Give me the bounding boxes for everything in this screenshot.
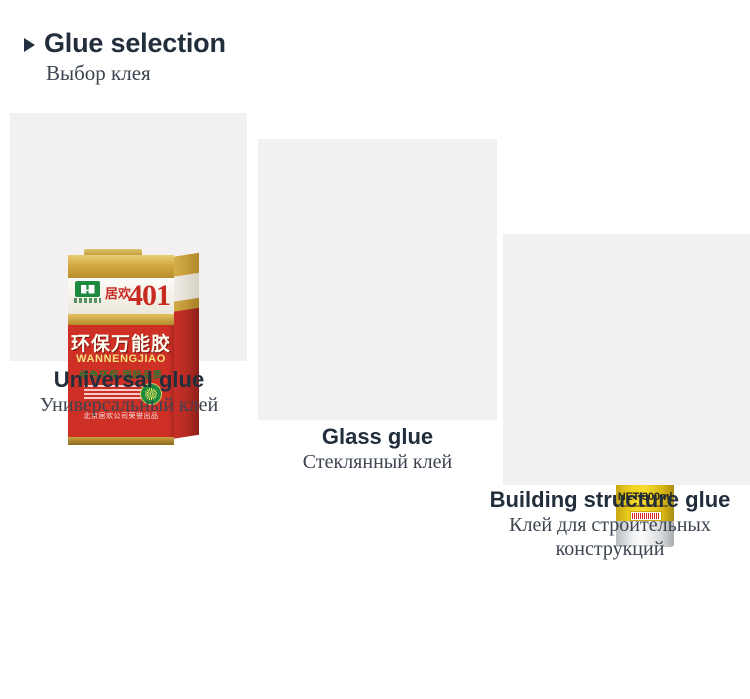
can-product-name-cn: 环保万能胶 xyxy=(68,329,174,356)
caption-en: Glass glue xyxy=(256,424,499,449)
product-image-panel-glass-glue: alloper ® 欢乐邦 HIGH SILICONE SEALANT ADHE… xyxy=(258,139,497,420)
caption-ru: Клей для строительных конструкций xyxy=(470,513,750,561)
page-subtitle: Выбор клея xyxy=(46,62,424,85)
can-bottom-rim xyxy=(68,437,174,445)
can-product-pinyin: WANNENGJIAO xyxy=(68,353,174,365)
can-mid-gold-band xyxy=(68,314,174,325)
page-header: Glue selection Выбор клея xyxy=(24,30,424,85)
can-white-band: 居欢 401 xyxy=(68,278,174,314)
caption-building-glue: Building structure glue Клей для строите… xyxy=(470,487,750,561)
green-brand-logo-icon xyxy=(75,281,100,297)
caption-en: Universal glue xyxy=(6,367,252,392)
logo-underline-text xyxy=(74,298,101,303)
triangle-right-icon xyxy=(24,38,35,52)
caption-universal-glue: Universal glue Универсальный клей xyxy=(6,367,252,417)
can-product-code: 401 xyxy=(128,279,170,312)
caption-glass-glue: Glass glue Стеклянный клей xyxy=(256,424,499,474)
product-image-panel-universal-glue: 居欢 401 环保万能胶 WANNENGJIAO 绿色环保 国际品质 北京居欢公… xyxy=(10,113,247,361)
caption-ru: Универсальный клей xyxy=(6,393,252,417)
caption-en: Building structure glue xyxy=(470,487,750,512)
product-image-panel-building-glue: 建筑结构胶 该标种生产工艺处于国内领先水平 JKJ−4 (混凝土界面型) xyxy=(503,234,750,485)
header-title-row: Glue selection xyxy=(24,30,424,57)
can-top-gold-band xyxy=(68,255,174,278)
caption-ru: Стеклянный клей xyxy=(256,450,499,474)
page-title: Glue selection xyxy=(44,30,226,57)
glue-selection-page: Glue selection Выбор клея 居欢 401 环保万能胶 xyxy=(0,0,750,607)
